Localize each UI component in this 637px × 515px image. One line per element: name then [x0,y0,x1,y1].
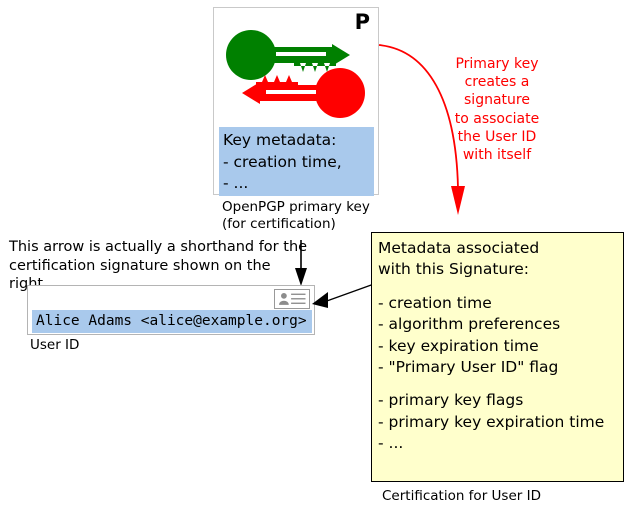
red-annotation-text: Primary key creates a signature to assoc… [432,55,562,164]
certification-item-7: - ... [378,433,623,454]
user-id-caption: User ID [30,337,79,353]
user-id-value: Alice Adams <alice@example.org> [32,310,312,333]
certification-heading-line-2: with this Signature: [378,259,623,280]
certification-box: Metadata associated with this Signature:… [371,232,624,482]
certification-item-1: - creation time [378,293,623,314]
red-annotation-line-6: with itself [432,146,562,164]
certification-to-user-id-arrow [310,278,378,318]
certification-spacer-two [378,378,623,390]
certification-item-5: - primary key flags [378,390,623,411]
red-annotation-line-2: creates a [432,73,562,91]
key-metadata-line-3: - ... [223,173,374,195]
certification-item-3: - key expiration time [378,336,623,357]
certification-item-2: - algorithm preferences [378,314,623,335]
red-annotation-line-3: signature [432,91,562,109]
shorthand-note-line-1: This arrow is actually a shorthand for t… [9,238,309,257]
certification-spacer-one [378,281,623,293]
red-annotation-line-4: to associate [432,110,562,128]
key-metadata-band: Key metadata: - creation time, - ... [219,127,374,196]
certification-caption: Certification for User ID [382,488,541,504]
key-metadata-line-2: - creation time, [223,152,374,174]
key-metadata-line-1: Key metadata: [223,130,374,152]
certification-item-4: - "Primary User ID" flag [378,357,623,378]
red-annotation-line-5: the User ID [432,128,562,146]
key-pair-icon [214,30,378,120]
openpgp-primary-key-card: P Key metadata: - creation time, - ... [213,7,379,195]
certification-heading-line-1: Metadata associated [378,238,623,259]
certification-item-6: - primary key expiration time [378,412,623,433]
red-annotation-line-1: Primary key [432,55,562,73]
id-card-icon [274,289,310,309]
user-id-box: Alice Adams <alice@example.org> [27,285,315,335]
